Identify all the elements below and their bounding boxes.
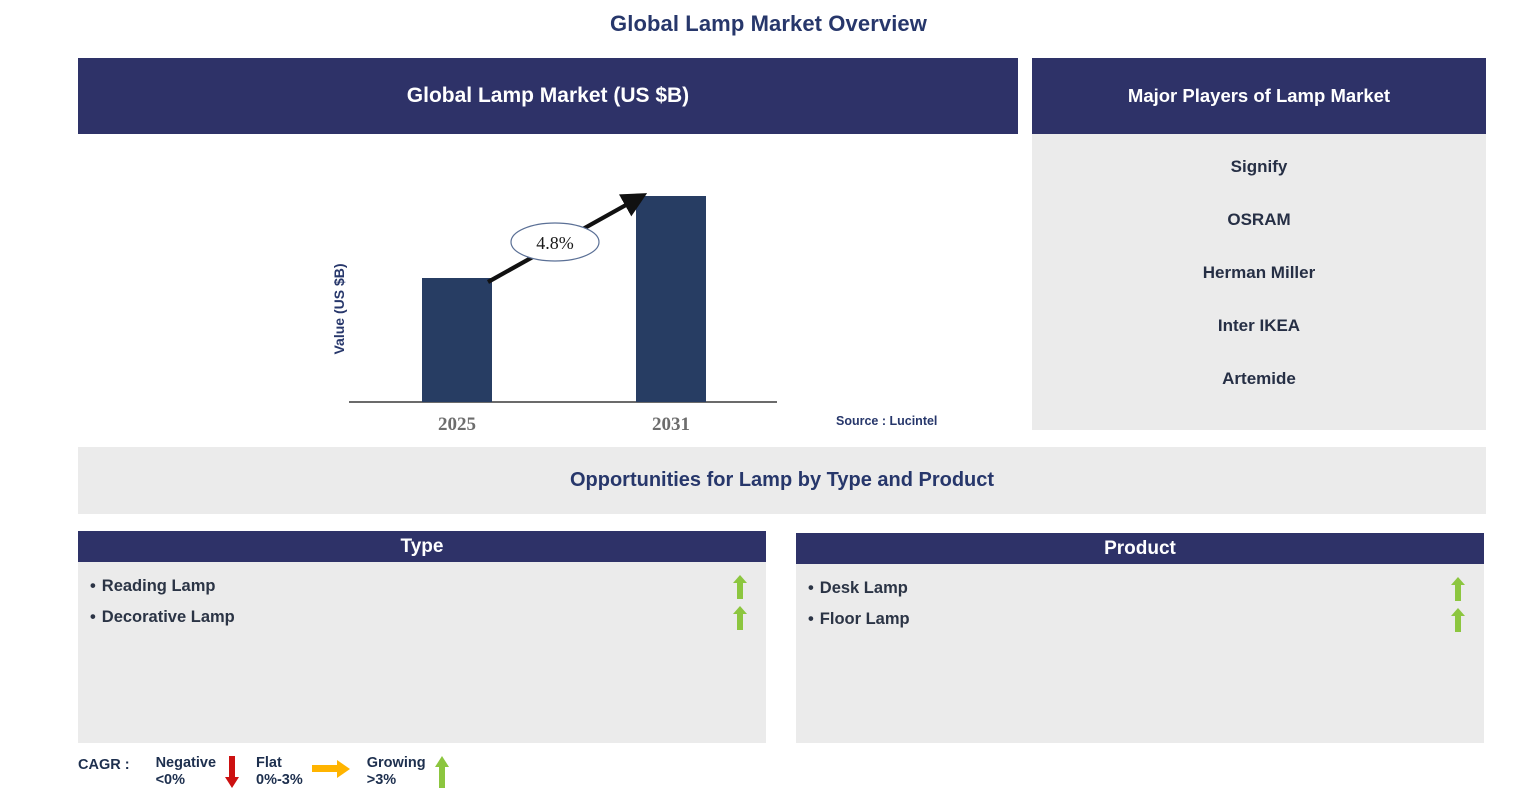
opportunity-label: Decorative Lamp [102,608,235,627]
bullet-marker: • [90,608,96,627]
list-item: • Decorative Lamp [78,602,766,633]
bullet-marker: • [90,577,96,596]
legend-entry-negative: Negative <0% [156,755,244,789]
legend-label: Growing [367,755,426,771]
players-panel-title: Major Players of Lamp Market [1128,85,1390,107]
bullet-marker: • [808,579,814,598]
legend-entry-growing: Growing >3% [367,755,454,789]
opportunities-title: Opportunities for Lamp by Type and Produ… [570,469,994,492]
legend-label: Negative [156,755,216,771]
bar-2025 [422,278,492,402]
type-panel-body: • Reading Lamp • Decorative Lamp [78,562,766,743]
list-item: Artemide [1032,370,1486,387]
arrow-up-icon [434,755,450,789]
arrow-up-icon [732,574,748,600]
opportunity-label: Reading Lamp [102,577,216,596]
players-panel-header: Major Players of Lamp Market [1032,58,1486,134]
legend-range: 0%-3% [256,772,303,789]
list-item: Herman Miller [1032,264,1486,281]
product-panel-header: Product [796,533,1484,564]
bar-chart: Value (US $B) 4.8% 2025 2031 [78,134,1018,436]
arrow-up-icon [1450,607,1466,633]
legend-text-negative: Negative <0% [156,755,216,789]
source-note: Source : Lucintel [836,414,937,428]
cagr-value: 4.8% [536,233,574,253]
list-item: Inter IKEA [1032,317,1486,334]
chart-panel-body: Value (US $B) 4.8% 2025 2031 Source : Lu… [78,134,1018,436]
legend-label: Flat [256,755,282,771]
cagr-legend-title: CAGR : [78,755,130,773]
x-tick-label-2031: 2031 [652,414,690,435]
legend-range: >3% [367,772,426,789]
page-title: Global Lamp Market Overview [0,11,1537,37]
list-item: • Reading Lamp [78,571,766,602]
legend-text-flat: Flat 0%-3% [256,755,303,789]
product-panel-body: • Desk Lamp • Floor Lamp [796,564,1484,743]
opportunity-label: Floor Lamp [820,610,910,629]
list-item: • Desk Lamp [796,573,1484,604]
arrow-down-icon [224,755,240,789]
chart-panel-header: Global Lamp Market (US $B) [78,58,1018,134]
x-tick-label-2025: 2025 [438,414,476,435]
cagr-legend: CAGR : Negative <0% Flat 0%-3% Growing >… [78,755,466,789]
opportunity-label: Desk Lamp [820,579,908,598]
type-panel-header: Type [78,531,766,562]
players-panel-body: Signify OSRAM Herman Miller Inter IKEA A… [1032,134,1486,430]
legend-range: <0% [156,772,216,789]
list-item: • Floor Lamp [796,604,1484,635]
type-panel-title: Type [401,536,444,558]
opportunities-band: Opportunities for Lamp by Type and Produ… [78,447,1486,514]
arrow-up-icon [1450,576,1466,602]
product-panel-title: Product [1104,538,1176,560]
legend-entry-flat: Flat 0%-3% [256,755,355,789]
chart-panel-title: Global Lamp Market (US $B) [407,84,689,108]
list-item: OSRAM [1032,211,1486,228]
y-axis-label: Value (US $B) [331,263,347,354]
bullet-marker: • [808,610,814,629]
bar-2031 [636,196,706,402]
list-item: Signify [1032,158,1486,175]
arrow-right-icon [311,758,351,780]
arrow-up-icon [732,605,748,631]
legend-text-growing: Growing >3% [367,755,426,789]
